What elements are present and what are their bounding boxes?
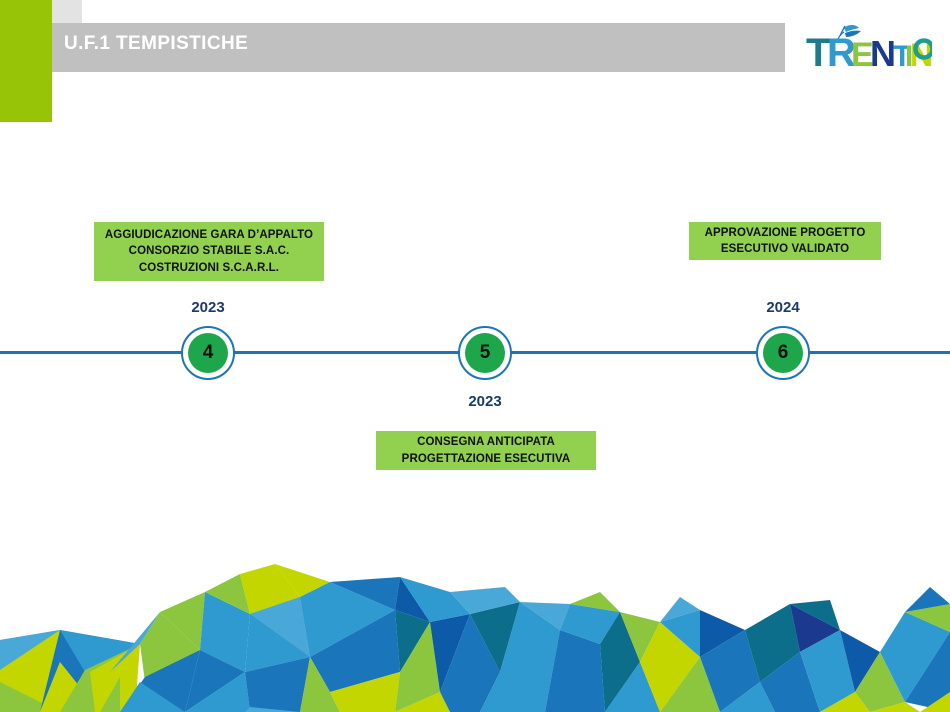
- page-title: U.F.1 TEMPISTICHE: [64, 33, 248, 55]
- year-label-node-6: 2024: [733, 299, 833, 316]
- timeline-node-6[interactable]: 6: [756, 326, 810, 380]
- timeline-node-6-number: 6: [763, 333, 803, 373]
- callout-2-line-1: CONSEGNA ANTICIPATA: [417, 434, 555, 450]
- trentino-logo: T R E N T I N: [806, 22, 932, 74]
- callout-1-line-3: COSTRUZIONI S.C.A.R.L.: [139, 260, 279, 276]
- callout-3-line-1: APPROVAZIONE PROGETTO: [705, 225, 866, 241]
- timeline-node-4-number: 4: [188, 333, 228, 373]
- callout-1-line-1: AGGIUDICAZIONE GARA D’APPALTO: [105, 227, 313, 243]
- low-poly-mountain-decoration: [0, 552, 950, 712]
- header-green-accent-block: [0, 0, 52, 122]
- timeline-node-5-number: 5: [465, 333, 505, 373]
- callout-2-line-2: PROGETTAZIONE ESECUTIVA: [402, 451, 571, 467]
- callout-1-line-2: CONSORZIO STABILE S.A.C.: [129, 243, 290, 259]
- callout-box-consegna: CONSEGNA ANTICIPATA PROGETTAZIONE ESECUT…: [376, 431, 596, 470]
- header-light-gray-block: [52, 0, 82, 23]
- callout-box-aggiudicazione: AGGIUDICAZIONE GARA D’APPALTO CONSORZIO …: [94, 222, 324, 281]
- callout-box-approvazione: APPROVAZIONE PROGETTO ESECUTIVO VALIDATO: [689, 222, 881, 260]
- slide-canvas: U.F.1 TEMPISTICHE T R E N T I N 4: [0, 0, 950, 712]
- year-label-node-5: 2023: [435, 393, 535, 410]
- timeline-node-4[interactable]: 4: [181, 326, 235, 380]
- year-label-node-4: 2023: [158, 299, 258, 316]
- timeline-node-5[interactable]: 5: [458, 326, 512, 380]
- callout-3-line-2: ESECUTIVO VALIDATO: [721, 241, 849, 257]
